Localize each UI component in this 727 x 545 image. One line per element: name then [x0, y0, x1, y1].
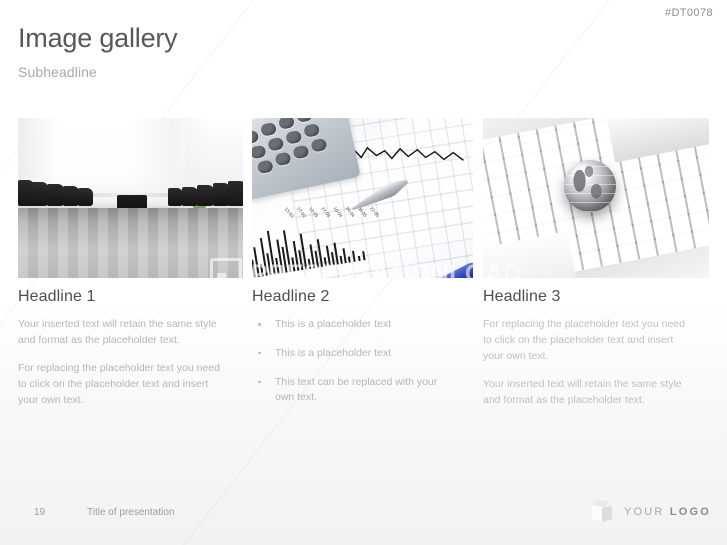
logo-placeholder[interactable]: YOUR LOGO [591, 500, 711, 524]
slide-footer: 19 Title of presentation YOUR LOGO [0, 489, 727, 545]
column-2-headline: Headline 2 [252, 288, 457, 306]
logo-text-light: YOUR [624, 506, 665, 518]
column-1-headline: Headline 1 [18, 288, 223, 306]
page-title: Image gallery [18, 24, 177, 54]
page-subtitle: Subheadline [18, 64, 177, 80]
content-column-3: Headline 3 For replacing the placeholder… [483, 288, 688, 421]
content-column-1: Headline 1 Your inserted text will retai… [18, 288, 223, 421]
column-1-paragraph-2: For replacing the placeholder text you n… [18, 361, 223, 409]
conference-room-photo[interactable] [18, 118, 243, 278]
globe-keyboard-photo[interactable] [483, 118, 709, 278]
column-2-bullet-list: This is a placeholder text This is a pla… [252, 317, 457, 406]
footer-presentation-title: Title of presentation [87, 507, 174, 518]
column-3-paragraph-1: For replacing the placeholder text you n… [483, 317, 688, 365]
column-1-paragraph-1: Your inserted text will retain the same … [18, 317, 223, 349]
finance-chart-photo[interactable]: 13-03 27-02 13-03 27-03 10-04 24-04 08-0… [252, 118, 473, 278]
page-number: 19 [34, 507, 45, 518]
document-code: #DT0078 [665, 7, 713, 19]
list-item: This text can be replaced with your own … [252, 375, 457, 407]
cube-logo-icon [591, 500, 613, 524]
column-3-paragraph-2: Your inserted text will retain the same … [483, 377, 688, 409]
slide-canvas: #DT0078 Image gallery Subheadline [0, 0, 727, 545]
list-item: This is a placeholder text [252, 317, 457, 333]
list-item: This is a placeholder text [252, 346, 457, 362]
image-gallery-row: 13-03 27-02 13-03 27-03 10-04 24-04 08-0… [18, 118, 709, 278]
content-column-2: Headline 2 This is a placeholder text Th… [252, 288, 457, 419]
logo-text: YOUR LOGO [624, 506, 711, 518]
title-block: Image gallery Subheadline [18, 24, 177, 80]
logo-text-bold: LOGO [670, 506, 711, 518]
column-3-headline: Headline 3 [483, 288, 688, 306]
